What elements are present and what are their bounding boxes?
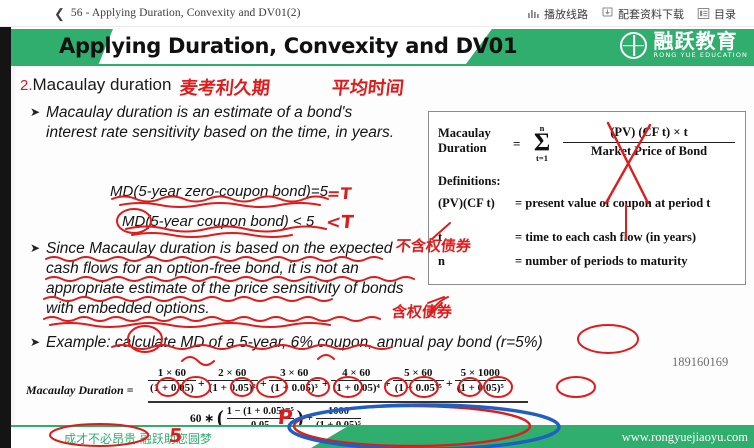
- player-top-bar: ❮ 56 - Applying Duration, Convexity and …: [0, 0, 754, 27]
- player-actions: 播放线路 配套资料下载 目录: [527, 0, 736, 27]
- signal-bars-icon: [527, 7, 540, 20]
- playback-route-button[interactable]: 播放线路: [527, 6, 588, 22]
- plus-sign: +: [260, 367, 267, 391]
- term-3: 3 × 60 (1 + 0.05)³: [269, 367, 320, 394]
- annotation-avg-time-cn: 平均时间: [331, 74, 406, 100]
- heading-number: 2.: [20, 77, 33, 94]
- summation-operator: n Σ t=1: [525, 124, 559, 162]
- formula-equals-sign: =: [513, 136, 520, 152]
- term-bar: [455, 380, 506, 381]
- term-numerator: 3 × 60: [269, 367, 320, 379]
- banner-underline: [11, 64, 754, 66]
- par-bar: [316, 418, 361, 419]
- md-line-coupon: MD(5-year coupon bond) < 5: [122, 213, 314, 230]
- slide-left-black-band: [0, 27, 11, 448]
- term-denominator: (1 + 0.05)⁵: [455, 382, 506, 394]
- annotation-less-than-t: <T: [325, 212, 355, 233]
- main-fraction-bar: [148, 401, 528, 403]
- annotation-option-free-cn: 不含权债券: [395, 235, 472, 256]
- lesson-title: 56 - Applying Duration, Convexity and DV…: [71, 7, 301, 19]
- globe-logo-icon: [620, 32, 647, 59]
- term-numerator: 2 × 60: [207, 367, 258, 379]
- definition-meaning-n: = number of periods to maturity: [515, 254, 740, 269]
- definition-symbol-n: n: [438, 254, 445, 269]
- term-numerator: 1 × 60: [148, 367, 196, 379]
- plus-sign: +: [384, 367, 391, 391]
- watermark-user-id: 189160169: [672, 355, 728, 370]
- bullet-item-1: Macaulay duration is an estimate of a bo…: [46, 103, 406, 143]
- plus-sign: +: [446, 367, 453, 391]
- example-formula-label: Macaulay Duration =: [26, 383, 134, 398]
- annotation-macaulay-cn: 麦考利久期: [179, 74, 272, 100]
- par-numerator: 1000: [316, 406, 361, 417]
- term-denominator: (1 + 0.05)⁵: [393, 382, 444, 394]
- bullet-arrow-icon: ➤: [30, 105, 40, 119]
- term-5: 5 × 60 (1 + 0.05)⁵: [393, 367, 444, 394]
- bullet-item-2: Since Macaulay duration is based on the …: [46, 239, 426, 319]
- term-denominator: (1 + 0.05)⁴: [331, 382, 382, 394]
- materials-download-label: 配套资料下载: [618, 6, 684, 22]
- plus-sign: +: [198, 367, 205, 391]
- definition-symbol-pv: (PV)(CF t): [438, 196, 495, 211]
- term-numerator: 5 × 1000: [455, 367, 506, 379]
- contents-button[interactable]: 目录: [697, 6, 736, 22]
- brand-logo: 融跃教育 RONG YUE EDUCATION: [620, 32, 748, 59]
- term-4: 4 × 60 (1 + 0.05)⁴: [331, 367, 382, 394]
- term-numerator: 4 × 60: [331, 367, 382, 379]
- materials-download-button[interactable]: 配套资料下载: [601, 6, 684, 22]
- macaulay-formula-box: Macaulay Duration = n Σ t=1 (PV) (CF t) …: [428, 111, 746, 285]
- definition-meaning-pv: = present value of coupon at period t: [515, 196, 735, 211]
- bullet-arrow-icon: ➤: [30, 241, 40, 255]
- md-line-zero-coupon: MD(5-year zero-coupon bond)=5: [110, 183, 328, 200]
- term-bar: [331, 380, 382, 381]
- page-heading: 2.Macaulay duration: [20, 75, 171, 95]
- term-denominator: (1 + 0.05): [148, 382, 196, 394]
- contents-label: 目录: [714, 6, 736, 22]
- term-2: 2 × 60 (1 + 0.05)²: [207, 367, 258, 394]
- download-icon: [601, 7, 614, 20]
- slide-header-banner: Applying Duration, Convexity and DV01 融跃…: [11, 29, 754, 64]
- term-bar: [148, 380, 196, 381]
- term-denominator: (1 + 0.05)³: [269, 382, 320, 394]
- macaulay-fraction: (PV) (CF t) × t Market Price of Bond: [563, 125, 735, 159]
- sigma-lower-limit: t=1: [525, 154, 559, 162]
- annotation-five: 5: [168, 425, 184, 447]
- bullet-item-3-example: Example: calculate MD of a 5-year, 6% co…: [46, 333, 606, 353]
- term-numerator: 5 × 60: [393, 367, 444, 379]
- footer-rule: [11, 425, 754, 427]
- definitions-label: Definitions:: [438, 174, 501, 189]
- list-icon: [697, 7, 710, 20]
- term-denominator: (1 + 0.05)²: [207, 382, 258, 394]
- fraction-numerator: (PV) (CF t) × t: [563, 125, 735, 140]
- slide-footer: 成才不必昂贵 融跃助您圆梦 www.rongyuejiaoyu.com: [11, 427, 754, 448]
- formula-box-title: Macaulay Duration: [438, 126, 491, 156]
- heading-text: Macaulay duration: [33, 75, 172, 94]
- brand-name-cn: 融跃教育: [653, 32, 748, 51]
- slide-left-gray-band: [11, 27, 15, 448]
- slide-title: Applying Duration, Convexity and DV01: [59, 34, 517, 58]
- plus-sign: +: [322, 367, 329, 391]
- annotation-equals-t: =T: [326, 184, 352, 203]
- back-to-lesson-list[interactable]: ❮ 56 - Applying Duration, Convexity and …: [54, 7, 301, 20]
- definition-meaning-t: = time to each cash flow (in years): [515, 230, 740, 245]
- term-bar: [207, 380, 258, 381]
- footer-slogan: 成才不必昂贵 融跃助您圆梦: [64, 430, 212, 447]
- fraction-bar: [563, 142, 735, 143]
- annotation-price-p: P: [277, 405, 294, 429]
- term-bar: [393, 380, 444, 381]
- slide-canvas: Applying Duration, Convexity and DV01 融跃…: [0, 27, 754, 448]
- annotation-embedded-option-cn: 含权债券: [391, 301, 453, 322]
- term-6: 5 × 1000 (1 + 0.05)⁵: [455, 367, 506, 394]
- formula-title-line2: Duration: [438, 141, 491, 156]
- brand-name-en: RONG YUE EDUCATION: [653, 51, 748, 59]
- term-bar: [269, 380, 320, 381]
- denominator-plus: +: [306, 412, 313, 424]
- chevron-left-icon[interactable]: ❮: [54, 7, 65, 20]
- term-1: 1 × 60 (1 + 0.05): [148, 367, 196, 394]
- footer-url: www.rongyuejiaoyu.com: [622, 430, 748, 445]
- coupon-multiplier: 60 ∗: [190, 411, 214, 425]
- fraction-denominator: Market Price of Bond: [563, 144, 735, 159]
- formula-title-line1: Macaulay: [438, 126, 491, 141]
- playback-route-label: 播放线路: [544, 6, 588, 22]
- bullet-arrow-icon: ➤: [30, 335, 40, 349]
- sigma-glyph: Σ: [525, 132, 559, 154]
- numerator-terms: 1 × 60 (1 + 0.05) + 2 × 60 (1 + 0.05)² +…: [148, 367, 506, 394]
